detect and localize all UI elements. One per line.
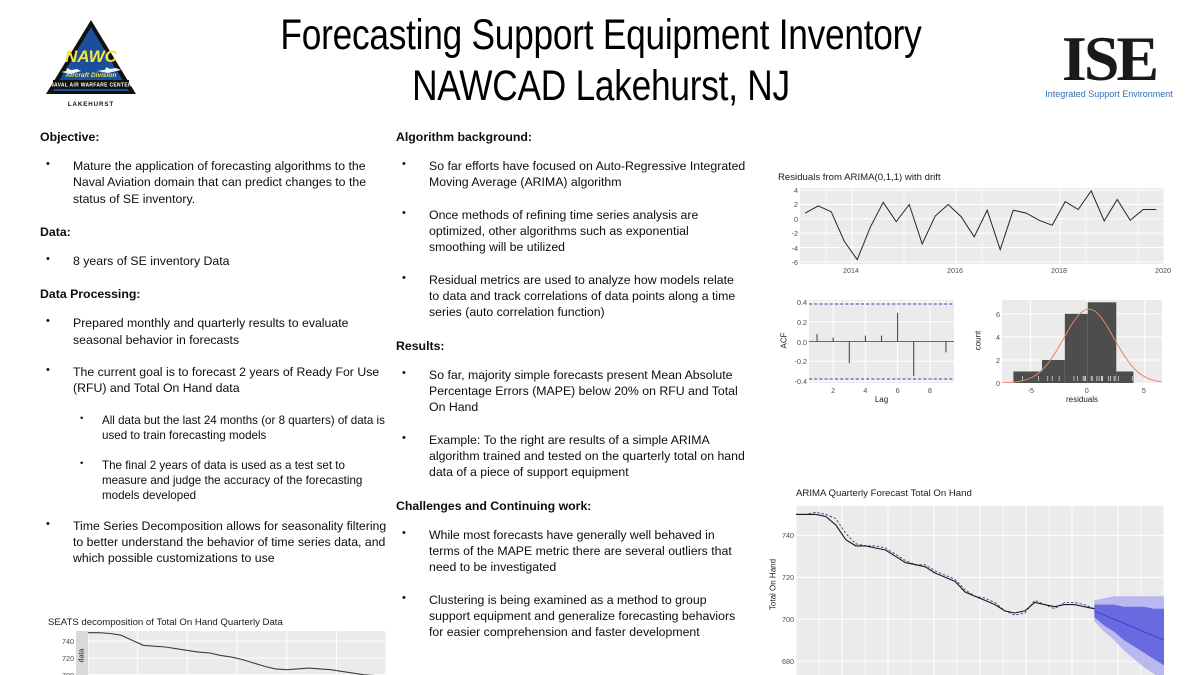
axis-tick-label: 720 [44, 654, 74, 663]
chart-acf-x-axis-label: Lag [809, 395, 954, 404]
bullet-processing-sub-2: The final 2 years of data is used as a t… [40, 458, 390, 504]
axis-tick-label: -6 [768, 258, 798, 267]
axis-tick-label: -0.4 [777, 377, 807, 386]
axis-tick-label: 740 [764, 531, 794, 540]
poster-header: NAWC Aircraft Division NAVAL AIR WARFARE… [0, 0, 1200, 122]
section-heading-data: Data: [40, 225, 390, 241]
svg-text:Integrated Support Environment: Integrated Support Environment [1045, 89, 1173, 99]
chart-hist-panel [1002, 300, 1162, 383]
chart-seats-plot [88, 631, 386, 675]
chart-seats-panel [88, 631, 386, 675]
bullet-challenges-2: Clustering is being examined as a method… [396, 592, 746, 641]
chart-acf: -0.4-0.20.00.20.4 2468 ACF Lag [773, 296, 956, 408]
chart-acf-plot [809, 300, 954, 383]
chart-hist-x-axis-label: residuals [1002, 395, 1162, 404]
chart-forecast-y-axis-label: Total On Hand [769, 550, 778, 620]
left-column: Objective: Mature the application of for… [40, 130, 390, 583]
chart-hist-plot [1002, 300, 1162, 383]
section-heading-challenges: Challenges and Continuing work: [396, 499, 746, 515]
chart-seats-decomposition: SEATS decomposition of Total On Hand Qua… [48, 617, 386, 675]
chart-residuals-title: Residuals from ARIMA(0,1,1) with drift [778, 172, 1164, 183]
svg-text:ISE: ISE [1062, 23, 1157, 94]
bullet-algorithm-3: Residual metrics are used to analyze how… [396, 272, 746, 321]
chart-residuals-panel [800, 188, 1164, 264]
bullet-objective-1: Mature the application of forecasting al… [40, 158, 390, 207]
axis-tick-label: 0 [768, 215, 798, 224]
poster-slide: NAWC Aircraft Division NAVAL AIR WARFARE… [0, 0, 1200, 675]
svg-text:LAKEHURST: LAKEHURST [68, 101, 114, 108]
axis-tick-label: 2016 [947, 266, 963, 275]
svg-text:Aircraft Division: Aircraft Division [65, 72, 117, 79]
chart-seats-title: SEATS decomposition of Total On Hand Qua… [48, 617, 386, 628]
bullet-processing-2: The current goal is to forecast 2 years … [40, 364, 390, 397]
page-title-line-2: NAWCAD Lakehurst, NJ [248, 61, 955, 112]
bullet-data-1: 8 years of SE inventory Data [40, 253, 390, 269]
middle-column: Algorithm background: So far efforts hav… [396, 130, 746, 657]
bullet-processing-3: Time Series Decomposition allows for sea… [40, 518, 390, 567]
section-heading-algorithm-background: Algorithm background: [396, 130, 746, 146]
chart-seats-facet-label: data [79, 648, 86, 662]
chart-arima-forecast: ARIMA Quarterly Forecast Total On Hand 6… [760, 488, 1164, 675]
axis-tick-label: 2018 [1051, 266, 1067, 275]
nawc-logo: NAWC Aircraft Division NAVAL AIR WARFARE… [44, 14, 138, 114]
axis-tick-label: 740 [44, 637, 74, 646]
bullet-results-1: So far, majority simple forecasts presen… [396, 367, 746, 416]
bullet-algorithm-1: So far efforts have focused on Auto-Regr… [396, 158, 746, 191]
page-title-line-1: Forecasting Support Equipment Inventory [248, 10, 955, 61]
axis-tick-label: 4 [768, 186, 798, 195]
bullet-processing-1: Prepared monthly and quarterly results t… [40, 315, 390, 348]
axis-tick-label: 2014 [843, 266, 859, 275]
chart-seats-facet-strip: data [76, 631, 88, 675]
axis-tick-label: 2 [831, 386, 835, 395]
axis-tick-label: 2 [768, 200, 798, 209]
section-heading-objective: Objective: [40, 130, 390, 146]
axis-tick-label: 2020 [1155, 266, 1171, 275]
chart-acf-y-axis-label: ACF [780, 321, 789, 361]
axis-tick-label: 0 [970, 379, 1000, 388]
chart-acf-panel [809, 300, 954, 383]
axis-tick-label: -5 [1028, 386, 1034, 395]
chart-residuals-plot [800, 188, 1164, 264]
axis-tick-label: 0.4 [777, 298, 807, 307]
chart-residuals-histogram: 0246 -505 count residuals [968, 296, 1164, 408]
ise-logo: ISE Integrated Support Environment [1043, 18, 1175, 104]
bullet-processing-sub-1: All data but the last 24 months (or 8 qu… [40, 413, 390, 444]
axis-tick-label: 6 [970, 310, 1000, 319]
bullet-challenges-1: While most forecasts have generally well… [396, 527, 746, 576]
svg-text:NAVAL AIR WARFARE CENTER: NAVAL AIR WARFARE CENTER [50, 83, 132, 89]
axis-tick-label: -4 [768, 244, 798, 253]
chart-residuals: Residuals from ARIMA(0,1,1) with drift -… [778, 172, 1164, 284]
section-heading-results: Results: [396, 339, 746, 355]
axis-tick-label: 4 [863, 386, 867, 395]
axis-tick-label: 8 [928, 386, 932, 395]
axis-tick-label: 6 [896, 386, 900, 395]
page-title: Forecasting Support Equipment Inventory … [248, 10, 955, 111]
chart-forecast-title: ARIMA Quarterly Forecast Total On Hand [796, 488, 1164, 499]
axis-tick-label: 5 [1142, 386, 1146, 395]
axis-tick-label: 0 [1085, 386, 1089, 395]
svg-text:NAWC: NAWC [65, 47, 118, 66]
axis-tick-label: 700 [44, 671, 74, 675]
axis-tick-label: -2 [768, 229, 798, 238]
chart-forecast-plot [796, 506, 1164, 675]
chart-hist-y-axis-label: count [974, 321, 983, 361]
chart-forecast-panel [796, 506, 1164, 675]
bullet-results-2: Example: To the right are results of a s… [396, 432, 746, 481]
bullet-algorithm-2: Once methods of refining time series ana… [396, 207, 746, 256]
section-heading-data-processing: Data Processing: [40, 287, 390, 303]
axis-tick-label: 680 [764, 657, 794, 666]
